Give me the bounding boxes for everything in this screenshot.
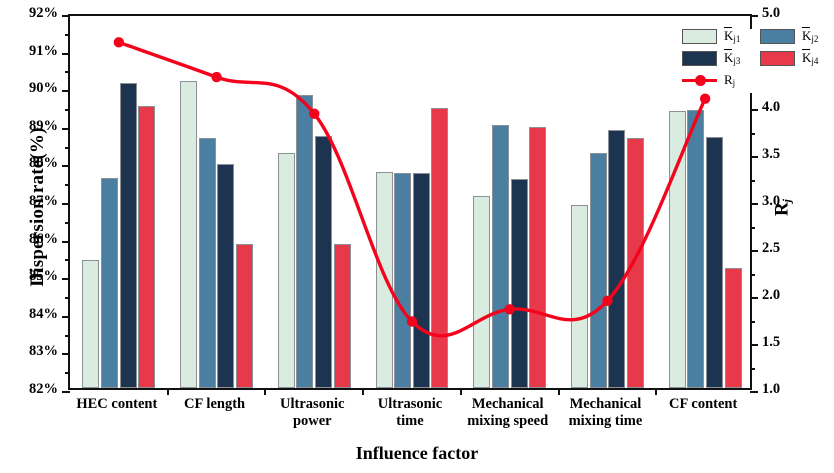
legend-swatch xyxy=(682,29,717,44)
legend-label: Kj3 xyxy=(724,50,740,66)
legend-swatch xyxy=(760,51,795,66)
rj-data-point: Rj Ultrasonic time = 1.75 xyxy=(407,316,417,326)
x-category-label: CF content xyxy=(654,396,752,413)
rj-data-point: Rj Ultrasonic power = 3.96 xyxy=(309,109,319,119)
legend-label-sub: j xyxy=(733,78,736,88)
legend-swatch xyxy=(682,51,717,66)
rj-data-point: Rj Mechanical mixing time = 1.97 xyxy=(602,296,612,306)
y-tick-left-label: 83% xyxy=(29,343,58,360)
y-tick-left-label: 88% xyxy=(29,155,58,172)
legend-label: Kj1 xyxy=(724,28,740,44)
y-tick-left-label: 84% xyxy=(29,306,58,323)
y-tick-right-label: 1.0 xyxy=(762,381,780,398)
x-category-label: Mechanicalmixing time xyxy=(557,396,655,430)
y-tick-left-label: 82% xyxy=(29,381,58,398)
legend-label: Rj xyxy=(724,72,735,88)
rj-data-point: Rj HEC content = 4.72 xyxy=(114,37,124,47)
x-category-label: CF length xyxy=(166,396,264,413)
tick-mark xyxy=(62,278,70,280)
rj-data-point: Rj Mechanical mixing speed = 1.88 xyxy=(505,304,515,314)
y-tick-left-label: 92% xyxy=(29,5,58,22)
chart-canvas: Dispersion rate(%) Rj Influence factor 9… xyxy=(0,0,834,473)
y-axis-right-title-sub: j xyxy=(780,199,794,202)
y-tick-left-label: 89% xyxy=(29,118,58,135)
tick-mark xyxy=(62,316,70,318)
legend-label-sub: j4 xyxy=(811,56,818,66)
x-category-label: Mechanicalmixing speed xyxy=(459,396,557,430)
tick-mark xyxy=(62,128,70,130)
legend-label-sub: j2 xyxy=(811,34,818,44)
y-tick-right-label: 4.0 xyxy=(762,99,780,116)
legend-label: Kj2 xyxy=(802,28,818,44)
legend-label-sub: j3 xyxy=(733,56,740,66)
tick-mark xyxy=(62,391,70,393)
tick-mark xyxy=(62,241,70,243)
tick-mark xyxy=(62,15,70,17)
rj-line-path xyxy=(119,42,705,335)
plot-inner: 92%91%90%89%88%87%86%85%84%83%82% 5.04.5… xyxy=(70,16,750,388)
y-tick-right-label: 3.0 xyxy=(762,193,780,210)
tick-mark xyxy=(62,90,70,92)
y-tick-left-label: 86% xyxy=(29,231,58,248)
tick-mark xyxy=(62,53,70,55)
plot-area: 92%91%90%89%88%87%86%85%84%83%82% 5.04.5… xyxy=(68,14,752,390)
y-tick-right-label: 1.5 xyxy=(762,334,780,351)
legend-label-sub: j1 xyxy=(733,34,740,44)
chart-legend: Kj1Kj2Kj3Kj4Rj xyxy=(682,29,822,93)
y-tick-right-label: 3.5 xyxy=(762,146,780,163)
y-tick-right-label: 2.5 xyxy=(762,240,780,257)
legend-swatch xyxy=(760,29,795,44)
rj-data-point: Rj CF content = 4.12 xyxy=(700,94,710,104)
x-category-label: HEC content xyxy=(68,396,166,413)
y-tick-left-label: 91% xyxy=(29,43,58,60)
x-category-label: Ultrasonicpower xyxy=(263,396,361,430)
y-tick-left-label: 85% xyxy=(29,268,58,285)
tick-mark xyxy=(62,353,70,355)
rj-line-series: Rj HEC content = 4.72Rj CF length = 4.35… xyxy=(70,16,754,392)
tick-mark xyxy=(62,203,70,205)
x-category-label: Ultrasonictime xyxy=(361,396,459,430)
rj-data-point: Rj CF length = 4.35 xyxy=(211,72,221,82)
legend-label: Kj4 xyxy=(802,50,818,66)
tick-mark xyxy=(62,165,70,167)
y-tick-right-label: 2.0 xyxy=(762,287,780,304)
x-axis-title: Influence factor xyxy=(0,443,834,464)
legend-marker-icon xyxy=(695,75,706,86)
y-tick-right-label: 5.0 xyxy=(762,5,780,22)
y-tick-left-label: 90% xyxy=(29,80,58,97)
y-tick-left-label: 87% xyxy=(29,193,58,210)
